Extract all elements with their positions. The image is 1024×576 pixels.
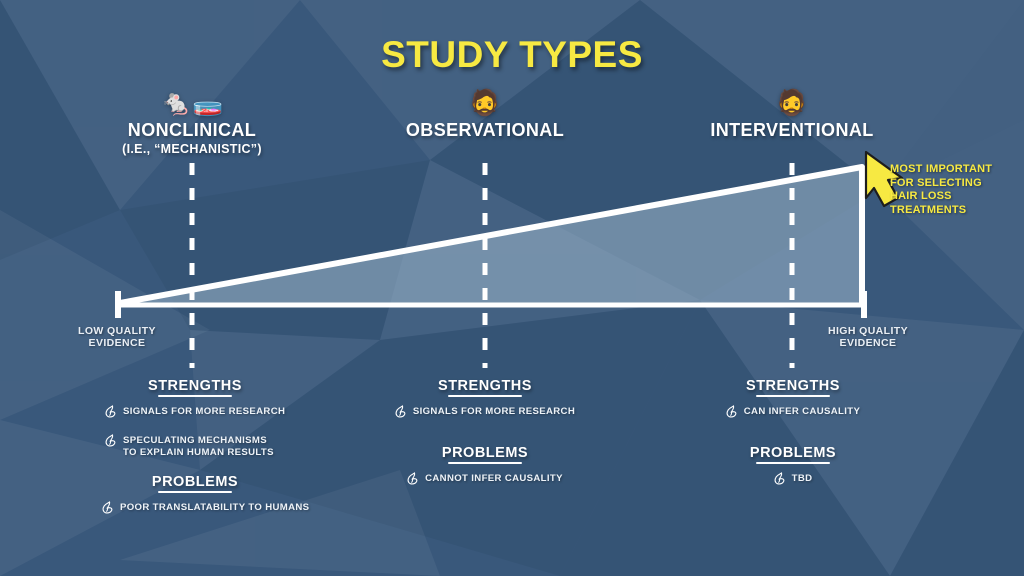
heading-underline [448, 462, 522, 464]
list-item-text: POOR TRANSLATABILITY TO HUMANS [120, 502, 309, 514]
list-item-line-2: TO EXPLAIN HUMAN RESULTS [123, 447, 274, 458]
list-item: CAN INFER CAUSALITY [648, 406, 938, 424]
column-subtitle-nonclinical: (I.E., “MECHANISTIC”) [92, 142, 292, 156]
column-icons-interventional: 🧔 [692, 88, 892, 120]
column-body-nonclinical: STRENGTHS SIGNALS FOR MORE RESEARCH SPEC… [50, 378, 340, 531]
column-header-interventional: 🧔 INTERVENTIONAL [692, 88, 892, 141]
list-item-text: TBD [792, 473, 813, 485]
axis-label-low-line1: LOW QUALITY [57, 325, 177, 337]
section-heading-text: STRENGTHS [746, 378, 840, 394]
infographic-canvas: STUDY TYPES 🐁🧫 NONCLINICAL (I.E., “MECHA… [0, 0, 1024, 576]
section-heading-text: PROBLEMS [750, 445, 836, 461]
hair-follicle-bullet-icon [395, 405, 407, 424]
annotation-most-important: MOST IMPORTANT FOR SELECTING HAIR LOSS T… [890, 163, 1010, 217]
hair-follicle-bullet-icon [102, 501, 114, 520]
heading-underline [158, 395, 232, 397]
axis-label-low-line2: EVIDENCE [57, 337, 177, 349]
list-item: SIGNALS FOR MORE RESEARCH [340, 406, 630, 424]
column-title-observational: OBSERVATIONAL [385, 120, 585, 141]
heading-underline [756, 462, 830, 464]
column-icons-observational: 🧔 [385, 88, 585, 120]
column-title-nonclinical: NONCLINICAL [92, 120, 292, 141]
list-item: SPECULATING MECHANISMS TO EXPLAIN HUMAN … [50, 435, 340, 458]
heading-underline [158, 491, 232, 493]
axis-label-high-line1: HIGH QUALITY [808, 325, 928, 337]
hair-follicle-bullet-icon [407, 472, 419, 491]
annotation-line-2: FOR SELECTING [890, 177, 1010, 191]
list-item-text: SIGNALS FOR MORE RESEARCH [413, 406, 575, 418]
column-icons-nonclinical: 🐁🧫 [92, 88, 292, 120]
heading-underline [756, 395, 830, 397]
section-heading-strengths-interventional: STRENGTHS [648, 378, 938, 397]
section-heading-text: PROBLEMS [442, 445, 528, 461]
axis-label-high-line2: EVIDENCE [808, 337, 928, 349]
section-heading-problems-interventional: PROBLEMS [648, 445, 938, 464]
section-heading-strengths-observational: STRENGTHS [340, 378, 630, 397]
axis-label-low-quality: LOW QUALITY EVIDENCE [57, 325, 177, 349]
list-item: POOR TRANSLATABILITY TO HUMANS [50, 502, 340, 520]
list-item: CANNOT INFER CAUSALITY [340, 473, 630, 491]
heading-underline [448, 395, 522, 397]
column-body-interventional: STRENGTHS CAN INFER CAUSALITY PROBLEMS T… [648, 378, 938, 502]
hair-follicle-bullet-icon [726, 405, 738, 424]
section-heading-text: PROBLEMS [152, 474, 238, 490]
list-item-text: SPECULATING MECHANISMS TO EXPLAIN HUMAN … [123, 435, 274, 458]
section-heading-strengths-nonclinical: STRENGTHS [50, 378, 340, 397]
hair-follicle-bullet-icon [105, 434, 117, 453]
list-item-text: CANNOT INFER CAUSALITY [425, 473, 563, 485]
list-item: SIGNALS FOR MORE RESEARCH [50, 406, 340, 424]
annotation-line-4: TREATMENTS [890, 204, 1010, 218]
column-body-observational: STRENGTHS SIGNALS FOR MORE RESEARCH PROB… [340, 378, 630, 502]
annotation-line-1: MOST IMPORTANT [890, 163, 1010, 177]
section-heading-text: STRENGTHS [438, 378, 532, 394]
list-item-line-1: SPECULATING MECHANISMS [123, 435, 267, 446]
section-heading-problems-nonclinical: PROBLEMS [50, 474, 340, 493]
list-item-text: SIGNALS FOR MORE RESEARCH [123, 406, 285, 418]
hair-follicle-bullet-icon [774, 472, 786, 491]
column-title-interventional: INTERVENTIONAL [692, 120, 892, 141]
hair-follicle-bullet-icon [105, 405, 117, 424]
axis-label-high-quality: HIGH QUALITY EVIDENCE [808, 325, 928, 349]
annotation-line-3: HAIR LOSS [890, 190, 1010, 204]
column-header-nonclinical: 🐁🧫 NONCLINICAL (I.E., “MECHANISTIC”) [92, 88, 292, 156]
column-header-observational: 🧔 OBSERVATIONAL [385, 88, 585, 141]
list-item: TBD [648, 473, 938, 491]
section-heading-text: STRENGTHS [148, 378, 242, 394]
section-heading-problems-observational: PROBLEMS [340, 445, 630, 464]
list-item-text: CAN INFER CAUSALITY [744, 406, 860, 418]
